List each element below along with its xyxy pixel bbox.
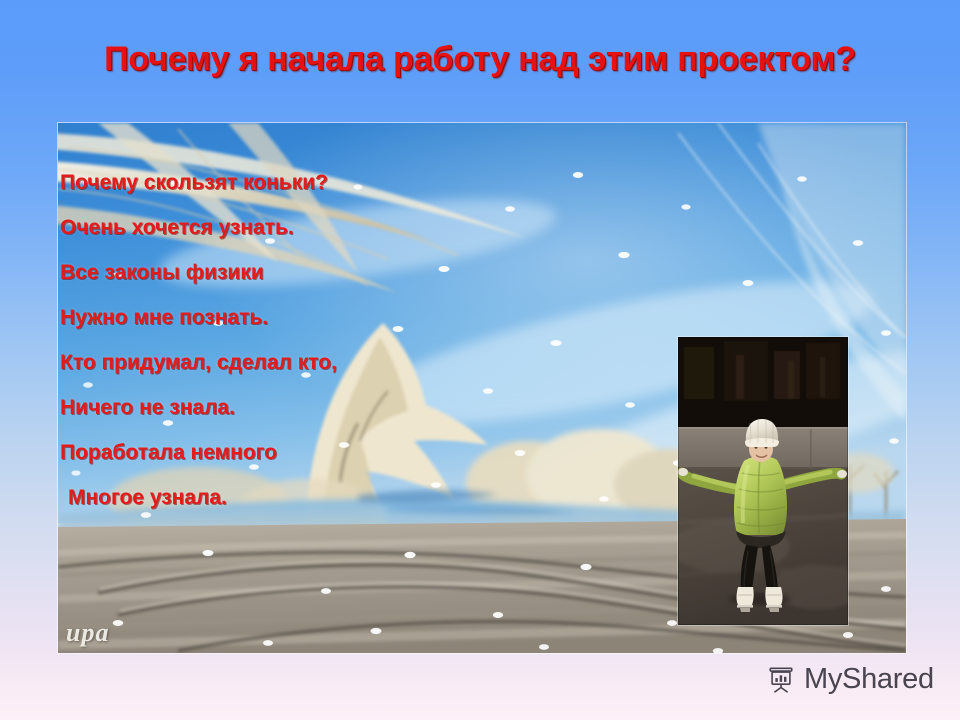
- poem-line: Кто придумал, сделал кто,: [60, 340, 530, 385]
- photo-author-watermark: ира: [66, 618, 109, 648]
- poem-line: Ничего не знала.: [60, 385, 530, 430]
- poem-line: Все законы физики: [60, 250, 530, 295]
- poem-line: Поработала немного: [60, 430, 530, 475]
- poem-line: Очень хочется узнать.: [60, 205, 530, 250]
- girl-ice-skating-photo: [678, 337, 848, 625]
- poem-text-block: Почему скользят коньки? Очень хочется уз…: [60, 160, 530, 520]
- poem-line: Нужно мне познать.: [60, 295, 530, 340]
- myshared-brand-label: MyShared: [804, 663, 934, 696]
- slide-title: Почему я начала работу над этим проектом…: [0, 40, 960, 79]
- myshared-watermark: MyShared: [766, 663, 934, 696]
- presentation-slide: Почему я начала работу над этим проектом…: [0, 0, 960, 720]
- poem-line: Многое узнала.: [60, 475, 530, 520]
- poem-line: Почему скользят коньки?: [60, 160, 530, 205]
- presentation-board-icon: [766, 665, 796, 695]
